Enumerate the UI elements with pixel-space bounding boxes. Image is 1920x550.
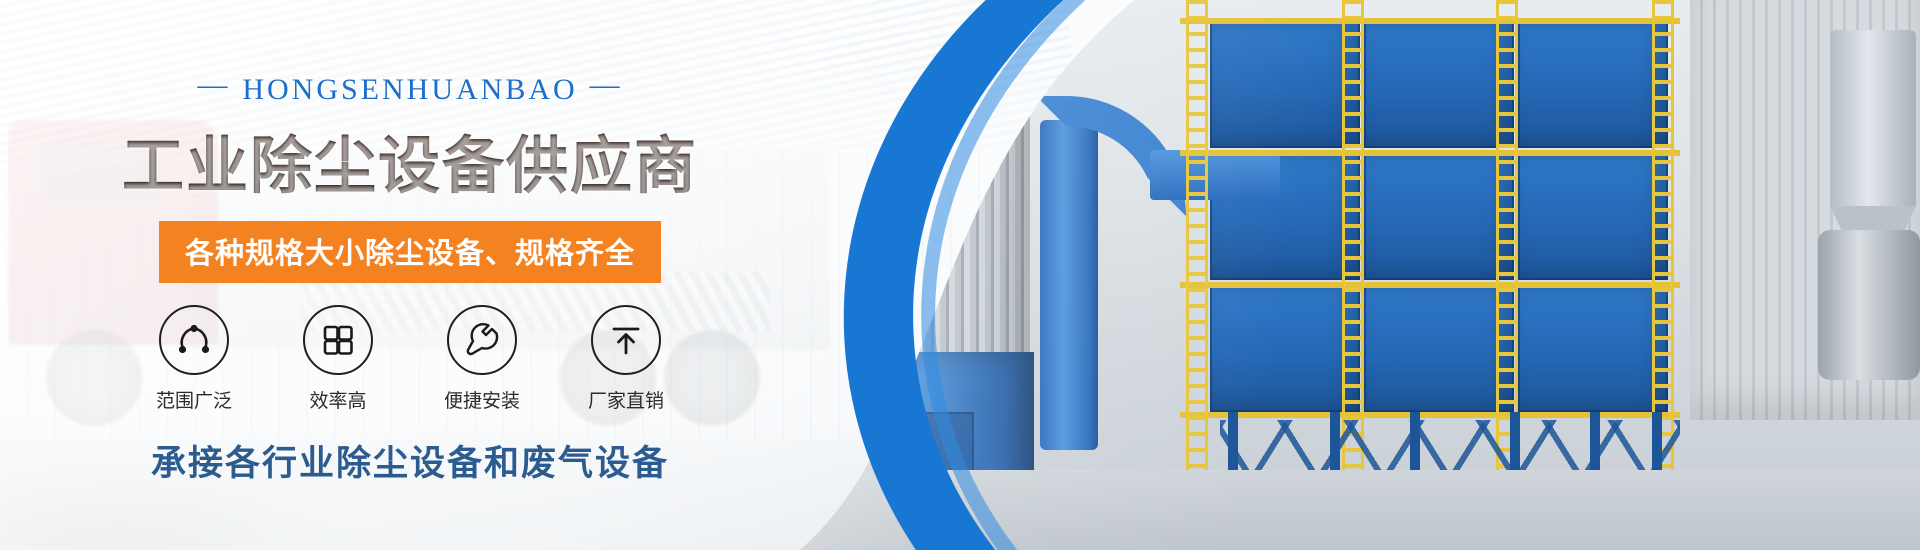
wrench-circle-icon [462, 320, 502, 360]
feature-item-scope[interactable]: 范围广泛 [151, 305, 237, 413]
footer-tagline: 承接各行业除尘设备和废气设备 [0, 435, 820, 486]
eyebrow-dash-right: — [590, 68, 623, 102]
headline: 工业除尘设备供应商 [0, 115, 820, 205]
eyebrow-text: HONGSENHUANBAO [242, 73, 577, 106]
promo-banner: —HONGSENHUANBAO— 工业除尘设备供应商 各种规格大小除尘设备、规格… [0, 0, 1920, 550]
feature-label: 便捷安装 [439, 386, 525, 413]
feature-icon-circle [591, 305, 661, 375]
eyebrow-tagline: —HONGSENHUANBAO— [0, 68, 820, 107]
feature-item-install[interactable]: 便捷安装 [439, 305, 525, 413]
grid-four-squares-icon [318, 320, 358, 360]
feature-item-factory-direct[interactable]: 厂家直销 [583, 305, 669, 413]
eyebrow-dash-left: — [197, 68, 230, 102]
feature-label: 范围广泛 [151, 386, 237, 413]
arrow-up-bar-icon [606, 320, 646, 360]
feature-list: 范围广泛 效率高 [0, 305, 820, 413]
banner-content: —HONGSENHUANBAO— 工业除尘设备供应商 各种规格大小除尘设备、规格… [0, 0, 820, 550]
scope-network-icon [174, 320, 214, 360]
feature-label: 厂家直销 [583, 386, 669, 413]
subheadline-orange-bar: 各种规格大小除尘设备、规格齐全 [159, 221, 661, 283]
feature-icon-circle [159, 305, 229, 375]
feature-label: 效率高 [295, 386, 381, 413]
feature-item-efficiency[interactable]: 效率高 [295, 305, 381, 413]
feature-icon-circle [303, 305, 373, 375]
feature-icon-circle [447, 305, 517, 375]
